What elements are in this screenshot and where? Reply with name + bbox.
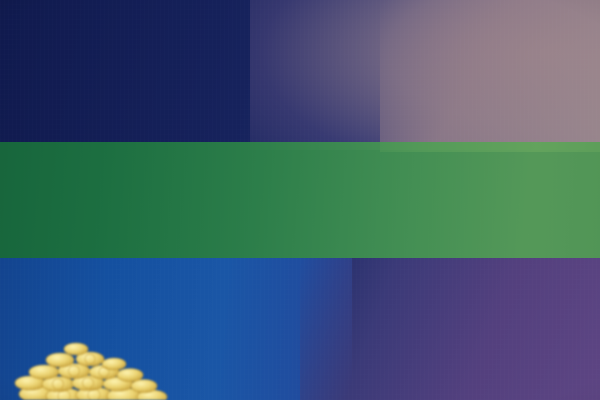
thumbnail-image: [0, 0, 600, 400]
headline-text-block: [0, 142, 600, 258]
